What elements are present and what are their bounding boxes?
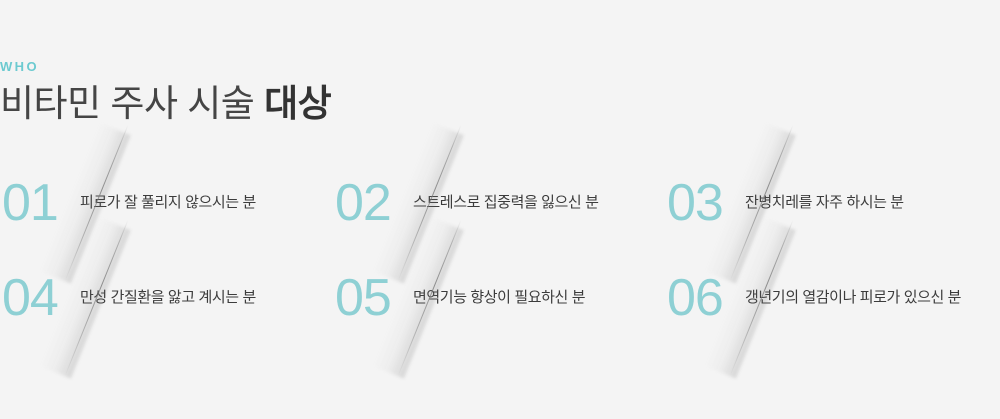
item-description: 잔병치레를 자주 하시는 분 [737,192,998,213]
list-item: 05 면역기능 향상이 필요하신 분 [333,250,666,345]
section-eyebrow-label: WHO [0,60,520,73]
item-number: 04 [0,272,72,324]
page-title-light-part: 비타민 주사 시술 [0,83,264,124]
item-description: 갱년기의 열감이나 피로가 있으신 분 [737,287,998,308]
section-header: WHO 비타민 주사 시술 대상 [0,60,520,126]
list-item: 01 피로가 잘 풀리지 않으시는 분 [0,155,333,250]
item-number: 06 [665,272,737,324]
target-audience-list: 01 피로가 잘 풀리지 않으시는 분 02 스트레스로 집중력을 잃으신 분 … [0,155,1000,365]
item-description: 피로가 잘 풀리지 않으시는 분 [72,192,333,213]
list-item: 06 갱년기의 열감이나 피로가 있으신 분 [665,250,998,345]
page-title-strong-part: 대상 [264,83,331,124]
item-number: 02 [333,177,405,229]
item-description: 스트레스로 집중력을 잃으신 분 [405,192,666,213]
page-title: 비타민 주사 시술 대상 [0,83,520,126]
item-number: 05 [333,272,405,324]
item-description: 면역기능 향상이 필요하신 분 [405,287,666,308]
item-description: 만성 간질환을 앓고 계시는 분 [72,287,333,308]
list-item: 02 스트레스로 집중력을 잃으신 분 [333,155,666,250]
list-item: 03 잔병치레를 자주 하시는 분 [665,155,998,250]
item-number: 01 [0,177,72,229]
item-number: 03 [665,177,737,229]
who-section: WHO 비타민 주사 시술 대상 01 피로가 잘 풀리지 않으시는 분 02 … [0,0,1000,419]
list-item: 04 만성 간질환을 앓고 계시는 분 [0,250,333,345]
